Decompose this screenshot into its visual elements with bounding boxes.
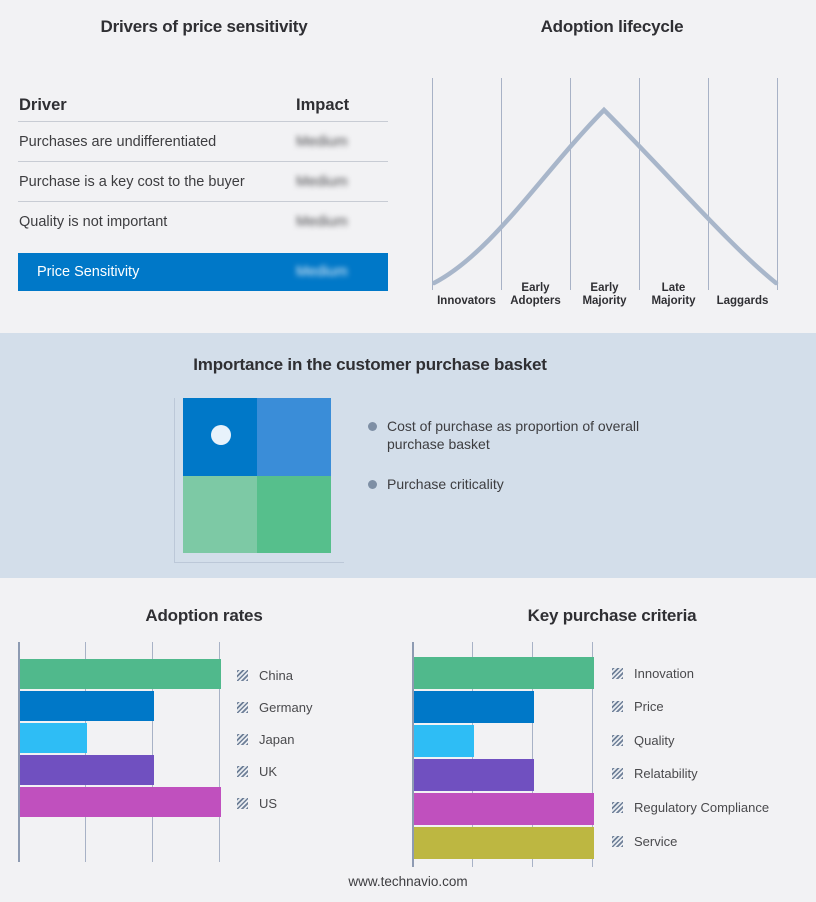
- impact-value-redacted: Medium: [296, 174, 348, 190]
- hatched-square-icon: [612, 735, 623, 746]
- hatched-square-icon: [612, 836, 623, 847]
- purchase-basket-panel: Importance in the customer purchase bask…: [0, 333, 816, 578]
- impact-value-redacted: Medium: [296, 134, 348, 150]
- quadrant-bottom-right: [257, 476, 331, 554]
- highlight-driver-impact: Medium: [296, 264, 388, 280]
- legend-label: Regulatory Compliance: [634, 800, 769, 815]
- legend-label: Germany: [259, 700, 312, 715]
- table-row: Purchases are undifferentiated Medium: [18, 122, 388, 162]
- bar-row: [20, 691, 154, 721]
- bar-row: [414, 827, 594, 859]
- drivers-table: Driver Impact Purchases are undifferenti…: [18, 90, 388, 291]
- bell-curve-svg: [432, 78, 804, 290]
- hatched-square-icon: [237, 798, 248, 809]
- quadrant-bottom-left: [183, 476, 257, 554]
- column-header-driver: Driver: [18, 96, 296, 115]
- legend-label: Service: [634, 834, 677, 849]
- lifecycle-label-early-majority: Early Majority: [570, 282, 639, 308]
- purchase-basket-title: Importance in the customer purchase bask…: [0, 355, 740, 375]
- bar-japan: [20, 723, 87, 753]
- price-sensitivity-highlight-row: Price Sensitivity Medium: [18, 253, 388, 291]
- highlight-driver-name: Price Sensitivity: [36, 264, 296, 280]
- quadrant-x-axis: [174, 562, 344, 563]
- legend-item: Japan: [237, 732, 294, 747]
- bar-row: [414, 657, 594, 689]
- drivers-title: Drivers of price sensitivity: [0, 17, 408, 37]
- key-purchase-criteria-chart: [412, 642, 597, 867]
- lifecycle-label-early-adopters: Early Adopters: [501, 282, 570, 308]
- key-purchase-criteria-panel: Key purchase criteria Innovation: [408, 582, 816, 872]
- legend-item: Cost of purchase as proportion of overal…: [368, 417, 658, 453]
- bullet-dot-icon: [368, 422, 377, 431]
- bar-regulatory-compliance: [414, 793, 594, 825]
- adoption-rates-legend: China Germany Japan UK US: [237, 642, 397, 862]
- bar-china: [20, 659, 221, 689]
- legend-label: Relatability: [634, 766, 698, 781]
- bar-row: [20, 723, 87, 753]
- driver-name: Purchase is a key cost to the buyer: [18, 174, 296, 190]
- hatched-square-icon: [612, 701, 623, 712]
- legend-label: Quality: [634, 733, 674, 748]
- bar-innovation: [414, 657, 594, 689]
- legend-item: China: [237, 668, 293, 683]
- bar-row: [414, 793, 594, 825]
- impact-value-redacted: Medium: [296, 264, 348, 280]
- legend-label: US: [259, 796, 277, 811]
- legend-item: US: [237, 796, 277, 811]
- lifecycle-label-innovators: Innovators: [432, 295, 501, 308]
- hatched-square-icon: [237, 734, 248, 745]
- column-header-impact: Impact: [296, 96, 388, 115]
- legend-label: Cost of purchase as proportion of overal…: [387, 417, 642, 453]
- adoption-rates-chart: [18, 642, 223, 862]
- bar-germany: [20, 691, 154, 721]
- driver-impact: Medium: [296, 214, 388, 230]
- lifecycle-label-late-majority: Late Majority: [639, 282, 708, 308]
- bar-uk: [20, 755, 154, 785]
- hatched-square-icon: [612, 668, 623, 679]
- key-purchase-criteria-title: Key purchase criteria: [408, 606, 816, 626]
- adoption-lifecycle-title: Adoption lifecycle: [408, 17, 816, 37]
- bar-row: [20, 755, 154, 785]
- hatched-square-icon: [237, 702, 248, 713]
- adoption-lifecycle-chart: Innovators Early Adopters Early Majority…: [432, 78, 804, 310]
- bar-us: [20, 787, 221, 817]
- legend-item: Price: [612, 699, 664, 714]
- legend-label: Japan: [259, 732, 294, 747]
- driver-impact: Medium: [296, 174, 388, 190]
- drivers-panel: Drivers of price sensitivity Driver Impa…: [0, 0, 408, 330]
- table-row: Quality is not important Medium: [18, 202, 388, 242]
- adoption-lifecycle-panel: Adoption lifecycle Innovators Early Adop…: [408, 0, 816, 330]
- legend-label: Innovation: [634, 666, 694, 681]
- legend-item: Purchase criticality: [368, 475, 658, 493]
- table-header-row: Driver Impact: [18, 90, 388, 122]
- hatched-square-icon: [237, 766, 248, 777]
- hatched-square-icon: [612, 802, 623, 813]
- bullet-dot-icon: [368, 480, 377, 489]
- legend-item: Germany: [237, 700, 312, 715]
- legend-label: Purchase criticality: [387, 475, 504, 493]
- driver-impact: Medium: [296, 134, 388, 150]
- bar-quality: [414, 725, 474, 757]
- key-purchase-criteria-legend: Innovation Price Quality Relatability Re…: [612, 642, 812, 872]
- legend-item: Quality: [612, 733, 674, 748]
- quadrant-matrix: [174, 398, 344, 563]
- footer-url: www.technavio.com: [0, 874, 816, 889]
- quadrant-grid: [183, 398, 331, 553]
- driver-name: Quality is not important: [18, 214, 296, 230]
- legend-label: Price: [634, 699, 664, 714]
- bar-service: [414, 827, 594, 859]
- driver-name: Purchases are undifferentiated: [18, 134, 296, 150]
- lifecycle-label-laggards: Laggards: [708, 295, 777, 308]
- bar-relatability: [414, 759, 534, 791]
- bar-row: [414, 691, 534, 723]
- table-row: Purchase is a key cost to the buyer Medi…: [18, 162, 388, 202]
- legend-item: Relatability: [612, 766, 698, 781]
- legend-label: China: [259, 668, 293, 683]
- legend-item: UK: [237, 764, 277, 779]
- legend-item: Innovation: [612, 666, 694, 681]
- quadrant-top-left: [183, 398, 257, 476]
- bar-row: [414, 759, 534, 791]
- quadrant-y-axis: [174, 398, 175, 563]
- bar-row: [20, 787, 221, 817]
- hatched-square-icon: [237, 670, 248, 681]
- adoption-rates-title: Adoption rates: [0, 606, 408, 626]
- legend-item: Regulatory Compliance: [612, 800, 769, 815]
- bar-row: [20, 659, 221, 689]
- legend-item: Service: [612, 834, 677, 849]
- bar-row: [414, 725, 474, 757]
- legend-label: UK: [259, 764, 277, 779]
- quadrant-position-marker: [211, 425, 231, 445]
- quadrant-top-right: [257, 398, 331, 476]
- adoption-rates-panel: Adoption rates China Germany: [0, 582, 408, 872]
- impact-value-redacted: Medium: [296, 214, 348, 230]
- hatched-square-icon: [612, 768, 623, 779]
- bar-price: [414, 691, 534, 723]
- purchase-basket-legend: Cost of purchase as proportion of overal…: [368, 417, 658, 515]
